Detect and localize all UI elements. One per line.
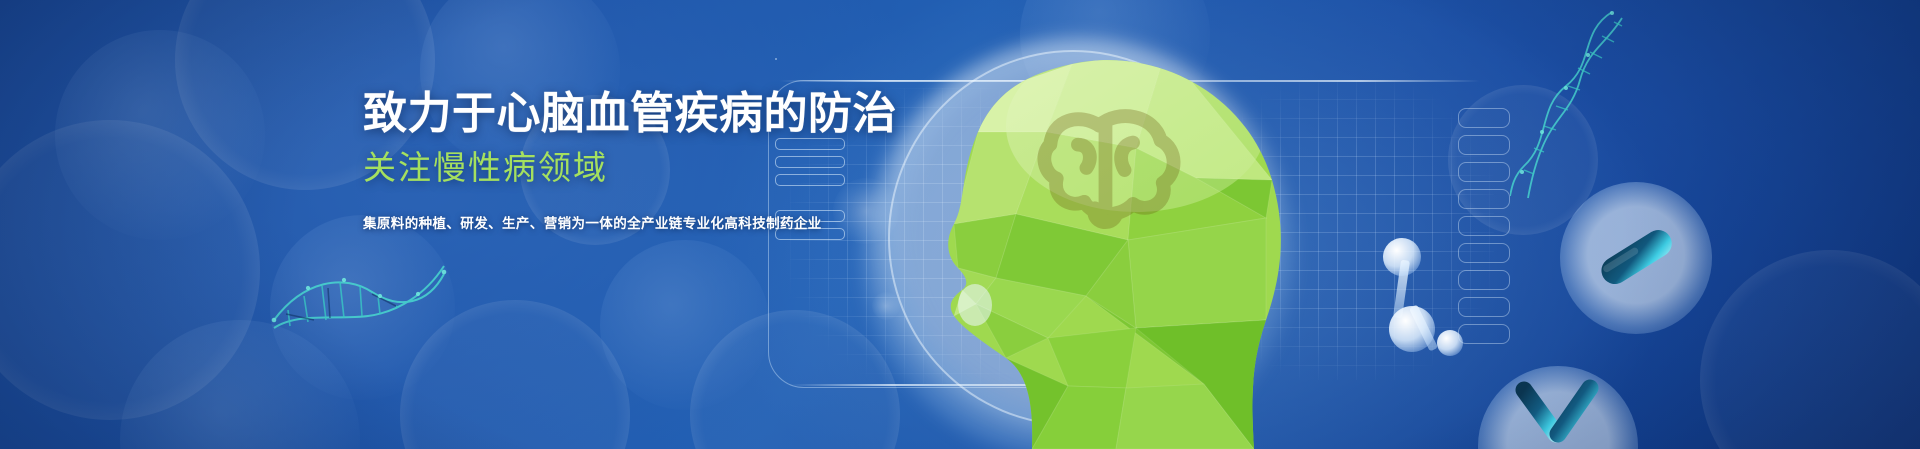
- headline: 致力于心脑血管疾病的防治: [363, 88, 1063, 140]
- molecule-bond: [1409, 304, 1438, 351]
- hud-slot: [1458, 297, 1510, 317]
- bokeh-circle: [400, 300, 630, 449]
- hero-banner: 致力于心脑血管疾病的防治 关注慢性病领域 集原料的种植、研发、生产、营销为一体的…: [0, 0, 1920, 449]
- dna-helix-right-icon: [1510, 10, 1630, 200]
- bokeh-circle: [600, 240, 770, 410]
- hud-bottom-line: [790, 384, 1080, 386]
- brain-outline-icon: [1044, 116, 1173, 222]
- bokeh-circle: [1700, 250, 1920, 449]
- hud-slot: [1458, 216, 1510, 236]
- cell-antibody-icon: [1478, 366, 1638, 449]
- hud-slot: [775, 58, 777, 60]
- bokeh-circle: [270, 215, 455, 400]
- ear-shape: [958, 284, 992, 326]
- hud-grid: [1204, 80, 1494, 380]
- cell-bacillus-icon: [1560, 182, 1712, 334]
- hud-top-line: [1180, 80, 1480, 82]
- bokeh-circle: [1448, 85, 1598, 235]
- hud-slot: [1458, 135, 1510, 155]
- molecule-icon: [1375, 230, 1495, 370]
- hud-slot: [1458, 243, 1510, 263]
- hud-slot: [1458, 324, 1510, 344]
- hud-slot: [1458, 108, 1510, 128]
- molecule-node: [1437, 330, 1463, 356]
- bokeh-circle: [55, 30, 265, 240]
- hud-top-line: [780, 80, 1080, 82]
- molecule-bond: [1393, 260, 1410, 319]
- banner-copy: 致力于心脑血管疾病的防治 关注慢性病领域 集原料的种植、研发、生产、营销为一体的…: [363, 88, 1063, 234]
- hud-slot: [1458, 189, 1510, 209]
- dna-helix-left-icon: [268, 258, 448, 338]
- tagline: 集原料的种植、研发、生产、营销为一体的全产业链专业化高科技制药企业: [363, 214, 1063, 234]
- headline-text: 致力于心脑血管疾病的防治: [363, 89, 897, 138]
- molecule-node: [1389, 306, 1435, 352]
- bokeh-circle: [872, 292, 900, 320]
- hud-slot: [1458, 270, 1510, 290]
- bokeh-circle: [690, 310, 900, 449]
- molecule-node: [1383, 238, 1421, 276]
- bokeh-circle: [0, 120, 260, 420]
- hud-panel-right: [1180, 40, 1520, 400]
- subheadline: 关注慢性病领域: [363, 148, 1063, 188]
- hud-slot: [1458, 162, 1510, 182]
- bokeh-circle: [120, 320, 360, 449]
